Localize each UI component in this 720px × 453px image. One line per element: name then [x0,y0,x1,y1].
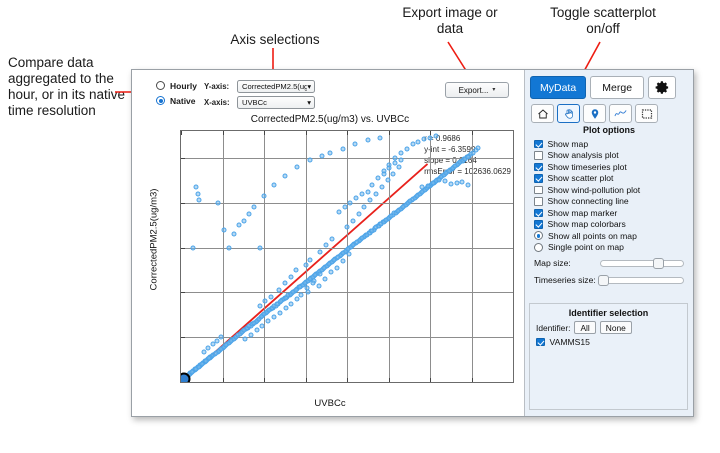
timeseries-button[interactable] [609,104,632,123]
identifier-item[interactable]: VAMMS15 [530,337,687,347]
scatter-point [317,272,322,277]
plot-options-slider-list: Map size:Timeseries size: [525,256,693,287]
scatter-point [442,179,447,184]
radio-label: Show all points on map [548,231,637,241]
scatter-point [365,137,370,142]
y-tick-mark [181,158,185,159]
aggregation-radio-group: Hourly Native [156,79,197,109]
scatter-point [329,270,334,275]
home-icon [537,108,549,120]
scatter-point [356,211,361,216]
plot-option-checkbox[interactable]: Show timeseries plot [525,161,693,173]
scatter-point [289,301,294,306]
scatter-point [294,267,299,272]
scatter-point [385,178,390,183]
scatter-point [320,153,325,158]
scatter-point [416,140,421,145]
settings-button[interactable] [648,76,676,99]
scatter-point [248,332,253,337]
scatter-point [398,158,403,163]
export-button[interactable]: Export... ▾ [445,82,509,98]
chevron-down-icon: ▾ [492,87,495,93]
checkbox-label: Show scatter plot [548,173,614,183]
y-axis-dropdown[interactable]: CorrectedPM2.5(ug. ▾ [237,80,315,93]
checkbox-label: Show analysis plot [548,150,619,160]
scatter-point [365,189,370,194]
scatter-point [271,182,276,187]
scatter-point [369,182,374,187]
scatter-point [282,281,287,286]
plot-pane: Hourly Native Y-axis: CorrectedPM2.5(ug.… [132,70,524,416]
chevron-down-icon: ▾ [307,83,311,91]
scatter-point [437,178,442,183]
scatter-point [216,200,221,205]
scatter-point [324,243,329,248]
pan-button[interactable] [557,104,580,123]
identifier-label: Identifier: [536,323,570,333]
scatter-point [202,349,207,354]
scatter-point [195,191,200,196]
checkbox-box[interactable] [534,174,543,183]
scatter-point [247,211,252,216]
radio-circle[interactable] [534,231,543,240]
scatter-point [252,205,257,210]
scatter-point [460,180,465,185]
identifier-none-button[interactable]: None [600,321,632,334]
scatter-point [454,181,459,186]
radio-native-circle[interactable] [156,96,165,105]
grid-line-vertical [472,131,473,382]
slider-knob[interactable] [598,275,609,286]
scatter-point [197,198,202,203]
scatter-point [276,288,281,293]
plot-option-checkbox[interactable]: Show map [525,138,693,150]
scatter-point [374,191,379,196]
radio-hourly[interactable]: Hourly [156,79,197,92]
scatter-point [242,337,247,342]
plot-controls-row: Hourly Native Y-axis: CorrectedPM2.5(ug.… [132,70,524,114]
scatter-point [422,137,427,142]
slider-label: Map size: [534,258,600,268]
scatter-point [398,151,403,156]
map-tool-bar [531,104,658,123]
checkbox-label: Show map marker [548,208,618,218]
scatter-point [283,306,288,311]
identifier-all-button[interactable]: All [574,321,595,334]
identifier-list: VAMMS15 [530,337,687,347]
radio-label: Single point on map [548,242,624,252]
x-axis-label: X-axis: [204,98,237,107]
scatter-point [448,181,453,186]
plot-option-slider[interactable]: Timeseries size: [525,273,693,287]
chart-title: CorrectedPM2.5(ug/m3) vs. UVBCc [140,114,520,125]
x-tick-mark [223,131,224,135]
highlighted-point-marker[interactable] [180,373,191,383]
x-tick-mark [472,131,473,135]
x-tick-mark [430,378,431,382]
checkbox-label: Show map [548,139,589,149]
slider-label: Timeseries size: [534,275,600,285]
radio-native[interactable]: Native [156,94,197,107]
scatter-point [193,185,198,190]
panel-tabs: MyData Merge [530,76,676,99]
radio-hourly-circle[interactable] [156,81,165,90]
scatter-point [425,183,430,188]
plot-option-checkbox[interactable]: Show wind-pollution plot [525,184,693,196]
scatter-point [387,165,392,170]
plot-option-slider[interactable]: Map size: [525,256,693,270]
scatter-point [266,319,271,324]
radio-circle[interactable] [534,243,543,252]
scatter-point [428,135,433,140]
scatter-point [466,182,471,187]
plot-options-radio-list: Show all points on mapSingle point on ma… [525,230,693,253]
x-tick-mark [472,378,473,382]
scatter-point [330,236,335,241]
scatter-point [191,245,196,250]
scatter-point [359,191,364,196]
scatter-point [340,146,345,151]
scatter-point [307,158,312,163]
scatter-point [345,225,350,230]
plot-option-checkbox[interactable]: Show map marker [525,207,693,219]
map-marker-button[interactable] [583,104,606,123]
plot-option-checkbox[interactable]: Show analysis plot [525,150,693,162]
scatter-point [381,171,386,176]
gear-icon [655,80,670,95]
scatter-point [323,276,328,281]
scatter-point [206,345,211,350]
scatter-point [375,176,380,181]
scatter-point [342,205,347,210]
scatter-point [431,180,436,185]
plot-option-checkbox[interactable]: Show map colorbars [525,219,693,231]
scatter-point [379,185,384,190]
x-tick-mark [513,378,514,382]
scatter-point [353,142,358,147]
axis-selectors: Y-axis: CorrectedPM2.5(ug. ▾ X-axis: UVB… [204,80,315,112]
scatter-point [391,171,396,176]
identifier-selection-section: Identifier selection Identifier: All Non… [529,303,688,410]
scatter-point [419,185,424,190]
scatter-point [254,328,259,333]
tab-mydata[interactable]: MyData [530,76,586,99]
scatter-point [476,146,481,151]
checkbox-label: Show connecting line [548,196,629,206]
tab-mydata-label: MyData [540,82,576,94]
scatter-point [307,258,312,263]
scatter-point [271,315,276,320]
scatter-point [295,297,300,302]
scatter-point [288,274,293,279]
scatter-point [393,155,398,160]
x-tick-mark [347,131,348,135]
map-pin-icon [589,108,601,120]
scatter-point [397,164,402,169]
stat-rmserror: rmsError = 102636.0629 [424,166,511,177]
grid-line-vertical [430,131,431,382]
x-tick-mark [181,131,182,135]
checkbox-box[interactable] [534,197,543,206]
plot-options-checkbox-list: Show mapShow analysis plotShow timeserie… [525,138,693,230]
x-tick-mark [389,131,390,135]
scatter-point [378,135,383,140]
y-tick-mark [181,337,185,338]
identifier-controls-row: Identifier: All None [530,321,687,334]
scatter-point [295,164,300,169]
scatter-point [257,303,262,308]
application-window: Hourly Native Y-axis: CorrectedPM2.5(ug.… [131,69,694,417]
plot-options-title: Plot options [525,125,693,135]
x-axis-dropdown[interactable]: UVBCc ▾ [237,96,315,109]
slider-track[interactable] [600,260,684,267]
scatter-point [404,146,409,151]
chart-x-axis-label: UVBCc [140,398,520,409]
y-tick-mark [181,203,185,204]
x-tick-mark [306,378,307,382]
y-axis-label: Y-axis: [204,82,237,91]
scatter-point [218,335,223,340]
x-tick-mark [389,378,390,382]
scatter-point [232,232,237,237]
x-tick-mark [223,378,224,382]
scatter-point [433,134,438,139]
right-panel: MyData Merge [524,70,693,416]
plot-option-radio[interactable]: Show all points on map [525,230,693,242]
scatter-point [362,205,367,210]
y-tick-mark [181,248,185,249]
scatter-point [222,227,227,232]
checkbox-box[interactable] [534,220,543,229]
scatter-point [328,151,333,156]
chart-plot-area[interactable]: r = 0.9686 y-int = -6.3599 slope = 0.016… [180,130,514,383]
scatter-point [410,142,415,147]
scatter-point [340,258,345,263]
scatter-chart: CorrectedPM2.5(ug/m3) vs. UVBCc Correcte… [140,114,520,410]
chart-y-axis-label: CorrectedPM2.5(ug/m3) [149,165,160,315]
plot-option-checkbox[interactable]: Show connecting line [525,196,693,208]
scatter-point [242,218,247,223]
scatter-point [282,173,287,178]
chevron-down-icon: ▾ [307,99,311,107]
scatter-point [257,245,262,250]
x-tick-mark [306,131,307,135]
scatter-point [348,200,353,205]
scatter-point [262,193,267,198]
scatter-point [227,245,232,250]
checkbox-label: Show map colorbars [548,219,626,229]
scatter-point [262,299,267,304]
checkbox-box[interactable] [534,140,543,149]
select-box-icon [641,108,653,120]
checkbox-box[interactable] [534,163,543,172]
tab-merge[interactable]: Merge [590,76,644,99]
checkbox-label: Show wind-pollution plot [548,185,641,195]
y-axis-selector-row: Y-axis: CorrectedPM2.5(ug. ▾ [204,80,315,93]
select-region-button[interactable] [635,104,658,123]
scatter-point [393,161,398,166]
grid-line-vertical [264,131,265,382]
scatter-point [299,292,304,297]
x-tick-mark [264,131,265,135]
identifier-item-label: VAMMS15 [550,337,590,347]
plot-options-section: Plot options Show mapShow analysis plotS… [525,125,693,287]
tab-merge-label: Merge [602,82,632,94]
x-axis-selector-row: X-axis: UVBCc ▾ [204,96,315,109]
scatter-point [268,294,273,299]
y-tick-mark [181,292,185,293]
scatter-point [305,290,310,295]
checkbox-box[interactable] [534,151,543,160]
line-chart-icon [614,107,627,120]
x-tick-mark [513,131,514,135]
scatter-point [310,281,315,286]
scatter-point [368,198,373,203]
home-button[interactable] [531,104,554,123]
slider-knob[interactable] [653,258,664,269]
checkbox-box[interactable] [534,186,543,195]
scatter-point [303,263,308,268]
checkbox-label: Show timeseries plot [548,162,627,172]
radio-native-label: Native [170,96,196,106]
x-axis-value: UVBCc [242,98,267,107]
scatter-point [260,323,265,328]
grid-line-vertical [306,131,307,382]
scatter-point [277,310,282,315]
x-tick-mark [264,378,265,382]
x-tick-mark [347,378,348,382]
scatter-point [335,265,340,270]
checkbox-box[interactable] [536,338,545,347]
checkbox-box[interactable] [534,209,543,218]
pan-hand-icon [563,108,575,120]
scatter-point [318,250,323,255]
plot-option-checkbox[interactable]: Show scatter plot [525,173,693,185]
slider-track[interactable] [600,277,684,284]
plot-option-radio[interactable]: Single point on map [525,242,693,254]
radio-hourly-label: Hourly [170,81,197,91]
scatter-point [237,223,242,228]
scatter-point [350,218,355,223]
scatter-point [354,196,359,201]
scatter-point [346,252,351,257]
export-button-label: Export... [459,86,489,95]
y-axis-value: CorrectedPM2.5(ug. [242,82,307,91]
identifier-selection-title: Identifier selection [530,308,687,318]
scatter-point [336,209,341,214]
scatter-point [316,283,321,288]
